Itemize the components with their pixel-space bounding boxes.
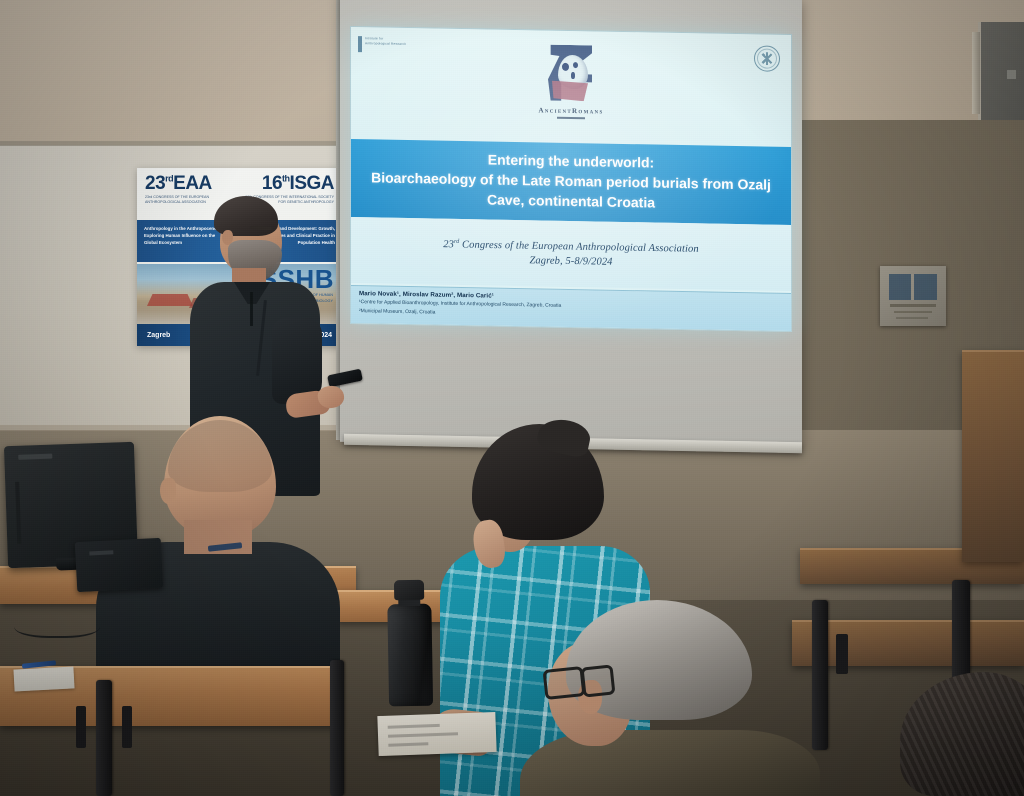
logo-skull-jaw [552, 81, 588, 102]
slide-title-band: Entering the underworld: Bioarchaeology … [351, 139, 791, 225]
congress-ordinal: 23 [443, 239, 454, 250]
congress-rest: Congress of the European Anthropological… [459, 240, 698, 255]
wall-panel-bracket [972, 32, 980, 114]
poster-eaa-sup: rd [165, 174, 173, 184]
institute-logo-bar [358, 36, 362, 52]
audience-grey-glasses [544, 666, 620, 694]
poster-isga-sup: th [282, 174, 290, 184]
monitor-cable [14, 610, 100, 638]
wall-sign-line-2 [894, 311, 932, 313]
poster-isga-number: 16 [262, 173, 282, 194]
ancient-romans-rule [557, 117, 585, 119]
wall-sign-graphic [889, 274, 937, 300]
ancient-romans-skull-icon [540, 44, 602, 105]
slide-top-section: Institute for Anthropological Research A… [351, 27, 791, 147]
bench-leg-center [330, 660, 344, 796]
ancient-romans-logo: AncientRomans [525, 44, 617, 130]
black-water-bottle [387, 580, 433, 707]
wall-panel-box [978, 22, 1024, 120]
logo-skull-eye-left [562, 63, 569, 71]
bench-bracket-left-2 [122, 706, 132, 748]
slide-congress-line: 23rd Congress of the European Anthropolo… [443, 239, 698, 255]
institute-logo: Institute for Anthropological Research [358, 36, 416, 55]
paper-on-back-desk [13, 666, 74, 691]
audience-bald-ear [160, 478, 176, 504]
institute-logo-text: Institute for Anthropological Research [365, 36, 406, 46]
glasses-lens-left [543, 666, 586, 700]
projected-slide: Institute for Anthropological Research A… [350, 26, 792, 332]
poster-eaa-acronym: EAA [173, 173, 212, 194]
bottle-cap [394, 580, 424, 601]
paper-line-2 [388, 732, 458, 737]
ancient-romans-label: AncientRomans [525, 106, 617, 116]
wall-sign-line-3 [896, 317, 928, 319]
logo-skull-nose [571, 72, 575, 79]
audience-member-grey-hair [520, 600, 820, 796]
institute-logo-line-2: Anthropological Research [365, 41, 406, 46]
speaker-shirt-placket [250, 292, 253, 326]
poster-footer-location: Zagreb [147, 332, 170, 339]
wall-sign-line-1 [890, 304, 936, 307]
paper-line-3 [388, 742, 428, 746]
poster-eaa-number: 23 [145, 173, 165, 194]
bench-leg-left [96, 680, 112, 796]
audience-bald-stubble [168, 420, 272, 492]
bench-bracket-right [836, 634, 848, 674]
papers-on-desk [377, 712, 496, 756]
lecture-hall-photo: 23rdEAA 23rd CONGRESS OF THE EUROPEAN AN… [0, 0, 1024, 796]
bench-bracket-left [76, 706, 86, 748]
monitor-secondary-logo [89, 550, 113, 555]
slide-event-section: 23rd Congress of the European Anthropolo… [351, 217, 791, 291]
audience-dark-hair [900, 672, 1024, 796]
wall-panel-nub [1007, 70, 1016, 79]
slide-location-date: Zagreb, 5-8/9/2024 [529, 255, 612, 268]
audience-grey-torso [520, 730, 820, 796]
wall-notice-sign [880, 266, 946, 326]
slide-authors-section: Mario Novak¹, Miroslav Razum², Mario Car… [351, 285, 791, 331]
slide-title: Entering the underworld: Bioarchaeology … [365, 148, 777, 215]
desktop-monitor-secondary [75, 538, 163, 592]
logo-skull-eye-right [573, 62, 578, 68]
glasses-lens-right [581, 664, 616, 697]
bench-side-panel-right [962, 350, 1024, 562]
paper-line-1 [388, 724, 440, 729]
pull-down-projector-screen: Institute for Anthropological Research A… [340, 0, 802, 460]
bottle-body [387, 604, 433, 707]
circular-emblem-icon [754, 45, 780, 71]
poster-isga-acronym: ISGA [290, 173, 334, 194]
audience-member-dark-hair [900, 672, 1024, 796]
